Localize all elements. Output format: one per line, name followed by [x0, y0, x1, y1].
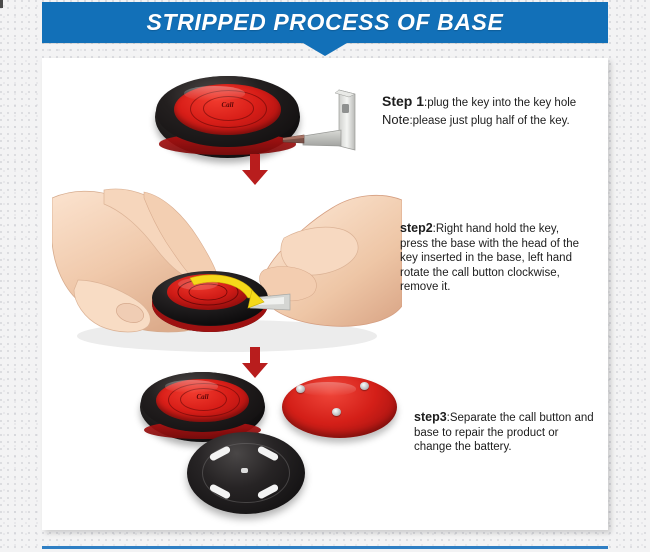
- header-banner: STRIPPED PROCESS OF BASE: [42, 2, 608, 43]
- red-cap-with-screws-image: [282, 376, 397, 438]
- call-button-label-2: Call: [140, 393, 265, 401]
- down-arrow-1-shaft: [250, 154, 260, 170]
- base-plate-center-hub: [241, 468, 248, 473]
- black-base-plate-image: [187, 432, 305, 514]
- step2-head: step2: [400, 221, 433, 235]
- left-edge-strip: [0, 0, 3, 8]
- step2-text: step2:Right hand hold the key, press the…: [400, 221, 580, 295]
- step1-body: :plug the key into the key hole: [424, 97, 576, 109]
- content-card: Call Step 1:: [42, 58, 608, 530]
- call-button-gloss-2: [165, 380, 218, 393]
- screw-top-right: [360, 382, 369, 390]
- hands-holding-button-illustration: [52, 186, 402, 356]
- screw-top-left: [296, 385, 305, 393]
- red-cap-gloss: [300, 382, 355, 396]
- metal-key-tool-image: [277, 84, 367, 160]
- step1-head: Step 1: [382, 93, 424, 109]
- step1-text: Step 1:plug the key into the key hole No…: [382, 94, 592, 128]
- screw-bottom: [332, 408, 341, 416]
- down-arrow-1-head: [242, 170, 268, 185]
- step2-photo: [52, 186, 402, 356]
- banner-pointer-triangle: [303, 43, 347, 56]
- call-button-gloss: [184, 86, 245, 101]
- down-arrow-1: [242, 154, 268, 185]
- bottom-accent-rule: [42, 546, 608, 549]
- step3-head: step3: [414, 410, 447, 424]
- step1-note-head: Note: [382, 112, 409, 127]
- step1-note-body: :please just plug half of the key.: [409, 115, 569, 127]
- down-arrow-2-shaft: [250, 347, 260, 363]
- page-title: STRIPPED PROCESS OF BASE: [42, 2, 608, 43]
- step3-photo: Call: [132, 370, 412, 520]
- step3-text: step3:Separate the call button and base …: [414, 410, 594, 455]
